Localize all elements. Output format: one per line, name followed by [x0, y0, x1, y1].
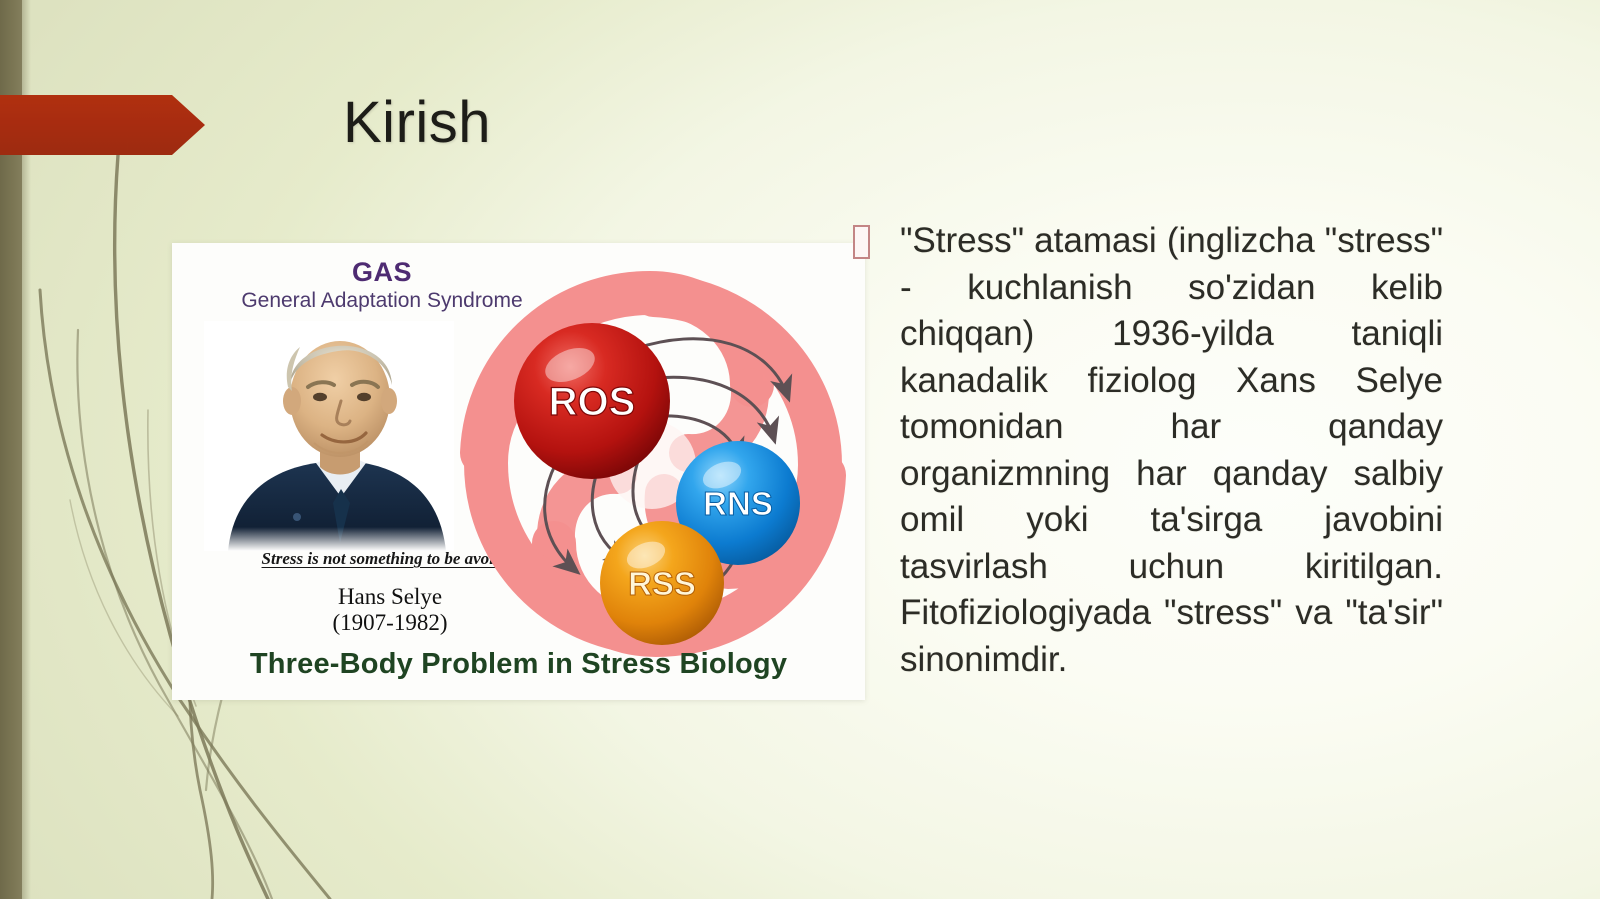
sphere-rss: RSS — [600, 521, 724, 645]
figure-image-card: GAS General Adaptation Syndrome — [172, 243, 865, 700]
figure-caption: Three-Body Problem in Stress Biology — [172, 648, 865, 681]
hans-selye-portrait — [204, 321, 454, 551]
body-paragraph: "Stress" atamasi (inglizcha "stress" - k… — [900, 218, 1443, 683]
svg-text:RSS: RSS — [628, 565, 696, 602]
page-title: Kirish — [343, 93, 491, 154]
title-arrow-banner — [0, 95, 205, 155]
body-text-block: "Stress" atamasi (inglizcha "stress" - k… — [853, 218, 1443, 683]
svg-text:RNS: RNS — [703, 485, 773, 522]
three-body-swirl-diagram: ROS RNS RSS — [440, 253, 865, 673]
sphere-ros: ROS — [514, 323, 670, 479]
svg-text:ROS: ROS — [549, 380, 636, 424]
presentation-slide: Kirish GAS General Adaptation Syndrome — [0, 0, 1600, 899]
bullet-box-glyph-icon — [853, 225, 870, 259]
